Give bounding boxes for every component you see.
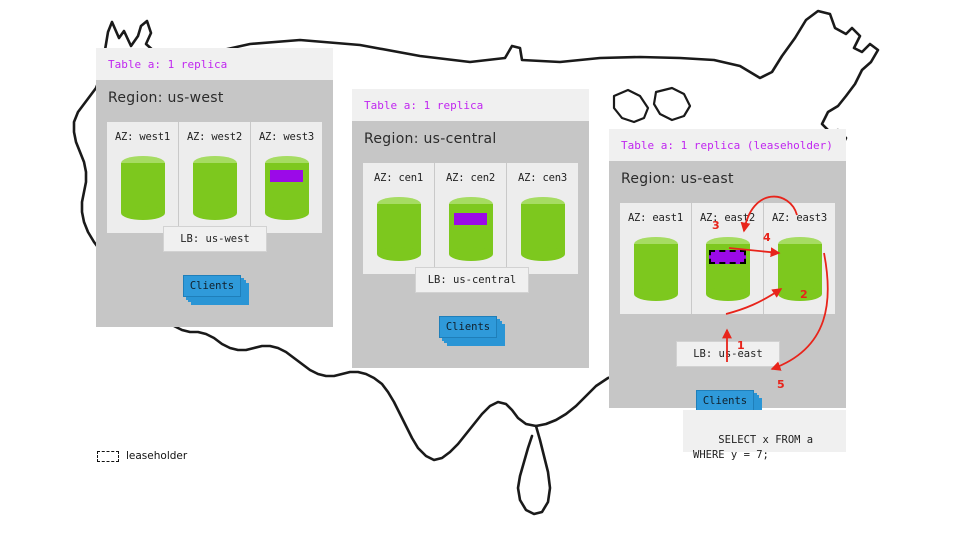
diagram-canvas: Table a: 1 replica Region: us-west AZ: w… <box>0 0 960 540</box>
region-body-us-west: Region: us-west AZ: west1 AZ: west2 <box>96 80 333 327</box>
clients-card-front[interactable]: Clients <box>439 316 497 338</box>
clients-us-central[interactable]: Clients <box>439 316 505 346</box>
cylinder-bottom <box>265 206 309 220</box>
cylinder-cen3 <box>521 197 565 261</box>
replica-marker-cen2[interactable] <box>454 213 487 225</box>
az-label: AZ: west3 <box>251 122 322 143</box>
az-row-us-central: AZ: cen1 AZ: cen2 <box>363 163 578 274</box>
region-name-label: Region: us-west <box>96 80 333 106</box>
region-body-us-east: Region: us-east AZ: east1 AZ: east2 <box>609 161 846 408</box>
replica-marker-west3[interactable] <box>270 170 303 182</box>
region-title-text: Table a: 1 replica (leaseholder) <box>621 140 833 151</box>
load-balancer-us-central[interactable]: LB: us-central <box>415 267 529 293</box>
region-name-label: Region: us-central <box>352 121 589 147</box>
az-row-us-west: AZ: west1 AZ: west2 AZ <box>107 122 322 233</box>
cylinder-bottom <box>377 247 421 261</box>
clients-label: Clients <box>190 280 234 292</box>
az-label: AZ: west1 <box>107 122 178 143</box>
az-label: AZ: cen1 <box>363 163 434 184</box>
load-balancer-us-west[interactable]: LB: us-west <box>163 226 267 252</box>
az-label: AZ: east3 <box>764 203 835 224</box>
region-panel-us-east: Table a: 1 replica (leaseholder) Region:… <box>609 129 846 408</box>
region-name-label: Region: us-east <box>609 161 846 187</box>
flow-label-1: 1 <box>737 339 745 352</box>
clients-card-front[interactable]: Clients <box>696 390 754 412</box>
az-label: AZ: cen2 <box>435 163 506 184</box>
region-title-bar-us-central: Table a: 1 replica <box>352 89 589 121</box>
region-title-text: Table a: 1 replica <box>364 100 483 111</box>
lb-label: LB: us-central <box>428 274 517 286</box>
leaseholder-swatch-icon <box>97 451 119 462</box>
region-title-text: Table a: 1 replica <box>108 59 227 70</box>
az-east1[interactable]: AZ: east1 <box>620 203 692 314</box>
az-west1[interactable]: AZ: west1 <box>107 122 179 233</box>
region-title-bar-us-west: Table a: 1 replica <box>96 48 333 80</box>
legend: leaseholder <box>97 450 187 462</box>
flow-label-4: 4 <box>763 231 771 244</box>
region-panel-us-central: Table a: 1 replica Region: us-central AZ… <box>352 89 589 368</box>
cylinder-bottom <box>449 247 493 261</box>
load-balancer-us-east[interactable]: LB: us-east <box>676 341 780 367</box>
sql-query-box: SELECT x FROM a WHERE y = 7; <box>683 410 846 452</box>
az-west3[interactable]: AZ: west3 <box>251 122 322 233</box>
az-label: AZ: west2 <box>179 122 250 143</box>
cylinder-cen2 <box>449 197 493 261</box>
az-west2[interactable]: AZ: west2 <box>179 122 251 233</box>
cylinder-east1 <box>634 237 678 301</box>
cylinder-west1 <box>121 156 165 220</box>
cylinder-bottom <box>634 287 678 301</box>
cylinder-bottom <box>521 247 565 261</box>
region-title-bar-us-east: Table a: 1 replica (leaseholder) <box>609 129 846 161</box>
cylinder-cen1 <box>377 197 421 261</box>
clients-label: Clients <box>703 395 747 407</box>
legend-label: leaseholder <box>126 450 187 462</box>
az-label: AZ: east2 <box>692 203 763 224</box>
az-cen3[interactable]: AZ: cen3 <box>507 163 578 274</box>
cylinder-west3 <box>265 156 309 220</box>
az-east2[interactable]: AZ: east2 <box>692 203 764 314</box>
cylinder-west2 <box>193 156 237 220</box>
region-panel-us-west: Table a: 1 replica Region: us-west AZ: w… <box>96 48 333 327</box>
clients-label: Clients <box>446 321 490 333</box>
cylinder-east2 <box>706 237 750 301</box>
flow-label-2: 2 <box>800 288 808 301</box>
az-label: AZ: cen3 <box>507 163 578 184</box>
region-body-us-central: Region: us-central AZ: cen1 AZ: cen2 <box>352 121 589 368</box>
az-cen1[interactable]: AZ: cen1 <box>363 163 435 274</box>
flow-label-5: 5 <box>777 378 785 391</box>
cylinder-bottom <box>706 287 750 301</box>
az-cen2[interactable]: AZ: cen2 <box>435 163 507 274</box>
cylinder-bottom <box>193 206 237 220</box>
clients-card-front[interactable]: Clients <box>183 275 241 297</box>
replica-marker-east2-leaseholder[interactable] <box>709 250 746 264</box>
clients-us-west[interactable]: Clients <box>183 275 249 305</box>
flow-label-3: 3 <box>712 219 720 232</box>
cylinder-bottom <box>121 206 165 220</box>
lb-label: LB: us-east <box>693 348 763 360</box>
lb-label: LB: us-west <box>180 233 250 245</box>
az-label: AZ: east1 <box>620 203 691 224</box>
